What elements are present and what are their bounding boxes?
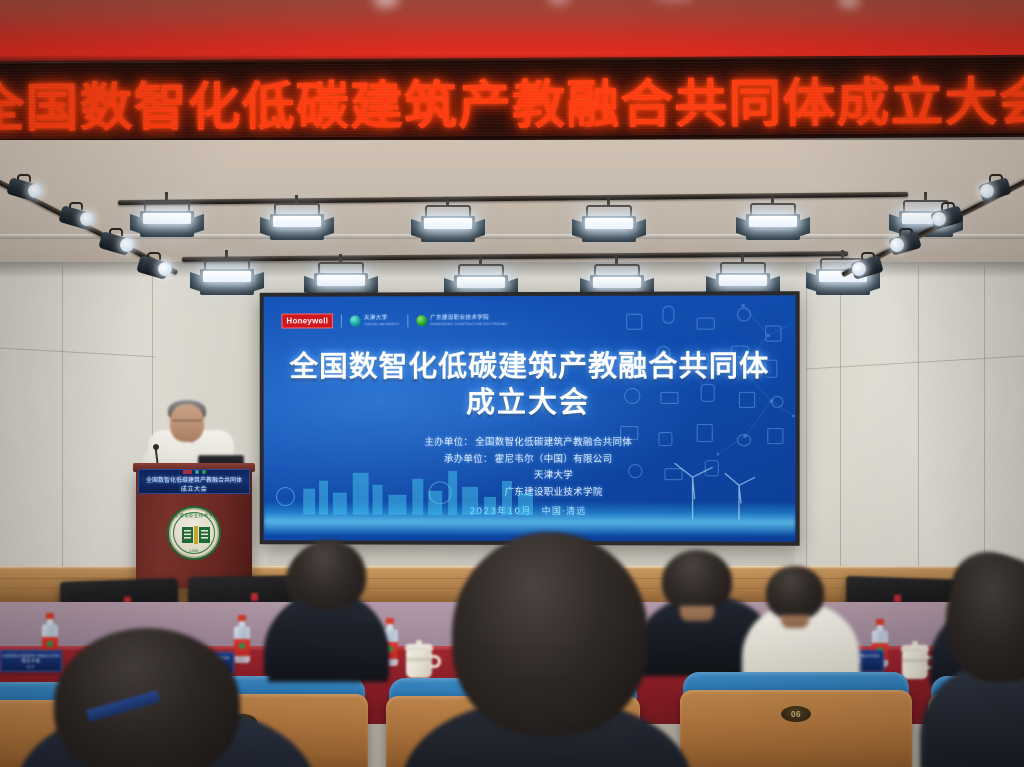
ceiling-light-reflection: [654, 0, 694, 2]
stage-spotlight: [100, 228, 134, 258]
wall-panel-seam: [62, 266, 63, 566]
wall-panel-seam: [918, 266, 919, 566]
foreground-head-center: [452, 532, 648, 736]
logo-divider: [341, 314, 342, 327]
stage-spotlight: [138, 252, 172, 282]
guangdong-polytechnic-mark-icon: [416, 315, 427, 326]
name-card-top: 全国数智化低碳建筑产教融合共同体: [2, 653, 59, 658]
ceiling-light-reflection: [548, 0, 570, 5]
school-emblem-icon: 广东建设职业技术学院 1958: [167, 506, 221, 560]
wind-turbine-graphic: [666, 447, 777, 519]
podium: 全国数智化低碳建筑产教融合共同体 成立大会 广东建设职业技术学院 1958: [136, 470, 252, 588]
name-card-bottom: 姓名: [27, 664, 36, 669]
right-wall: [795, 262, 1024, 574]
ceiling-light-reflection: [838, 0, 860, 8]
seat-number-plate: 06: [781, 706, 811, 722]
podium-led-display: 全国数智化低碳建筑产教融合共同体 成立大会: [138, 469, 250, 494]
wall-panel-seam: [984, 266, 985, 566]
chair-back-panel: [680, 690, 912, 767]
stage-spotlight: [890, 228, 924, 258]
slide-logo-row: Honeywell 天津大学 TIANJIN UNIVERSITY 广东建设职业…: [281, 313, 507, 328]
stage-spotlight: [932, 202, 966, 232]
audience-head: [662, 550, 732, 612]
ceiling-light-reflection: [373, 0, 399, 8]
foreground-head-right: [946, 556, 1024, 682]
audience-head: [766, 566, 824, 620]
delegate-name-card: 全国数智化低碳建筑产教融合共同体 成立大会 姓名: [0, 650, 62, 672]
stage-flood-light: [417, 205, 479, 245]
stage-led-screen: Honeywell 天津大学 TIANJIN UNIVERSITY 广东建设职业…: [260, 291, 800, 546]
led-banner: 全国数智化低碳建筑产教融合共同体成立大会: [0, 55, 1024, 143]
stage-spotlight: [980, 174, 1014, 204]
logo-divider: [407, 314, 408, 327]
slide-title: 全国数智化低碳建筑产教融合共同体 成立大会: [264, 348, 796, 421]
podium-led-logo-row: [183, 470, 206, 474]
wall-panel-seam: [806, 266, 807, 566]
conference-photo-scene: 全国数智化低碳建筑产教融合共同体成立大会: [0, 0, 1024, 767]
emblem-building-icon: [182, 526, 210, 544]
speaker-glasses-icon: [172, 420, 202, 426]
stage-spotlight: [852, 252, 886, 282]
honeywell-logo: Honeywell: [281, 313, 333, 328]
podium-led-line1: 全国数智化低碳建筑产教融合共同体: [146, 475, 242, 484]
emblem-arc-text: 广东建设职业技术学院: [169, 513, 219, 519]
stage-flood-light: [196, 258, 258, 298]
stage-flood-light: [742, 203, 804, 243]
slide-title-line1: 全国数智化低碳建筑产教融合共同体: [264, 348, 796, 386]
slide-surface: Honeywell 天津大学 TIANJIN UNIVERSITY 广东建设职业…: [264, 295, 796, 542]
midground-head: [292, 540, 366, 610]
podium-led-line2: 成立大会: [181, 484, 207, 493]
wall-panel-seam: [840, 266, 841, 566]
slide-title-line2: 成立大会: [264, 385, 796, 421]
tea-mug: [404, 644, 434, 678]
organizer-value: 全国数智化低碳建筑产教融合共同体: [473, 435, 632, 452]
stage-flood-light: [136, 200, 198, 240]
organizer-label: 主办单位：: [424, 435, 473, 452]
stage-flood-light: [266, 203, 328, 243]
tianjin-university-mark-icon: [350, 315, 361, 326]
microphone-icon: [153, 444, 159, 450]
red-ceiling-band: [0, 0, 1024, 62]
stage-spotlight: [60, 202, 94, 232]
stage-spotlight: [8, 174, 42, 204]
tianjin-university-logo: 天津大学 TIANJIN UNIVERSITY: [350, 315, 399, 326]
emblem-year-text: 1958: [169, 549, 219, 553]
tianjin-university-name: 天津大学 TIANJIN UNIVERSITY: [364, 315, 399, 326]
stage-flood-light: [578, 205, 640, 245]
guangdong-polytechnic-name: 广东建设职业技术学院 GUANGDONG CONSTRUCTION POLYTE…: [430, 315, 508, 326]
guangdong-construction-polytechnic-logo: 广东建设职业技术学院 GUANGDONG CONSTRUCTION POLYTE…: [416, 315, 508, 326]
led-banner-text: 全国数智化低碳建筑产教融合共同体成立大会: [0, 59, 1024, 141]
auditorium-chair: 06: [680, 672, 912, 767]
